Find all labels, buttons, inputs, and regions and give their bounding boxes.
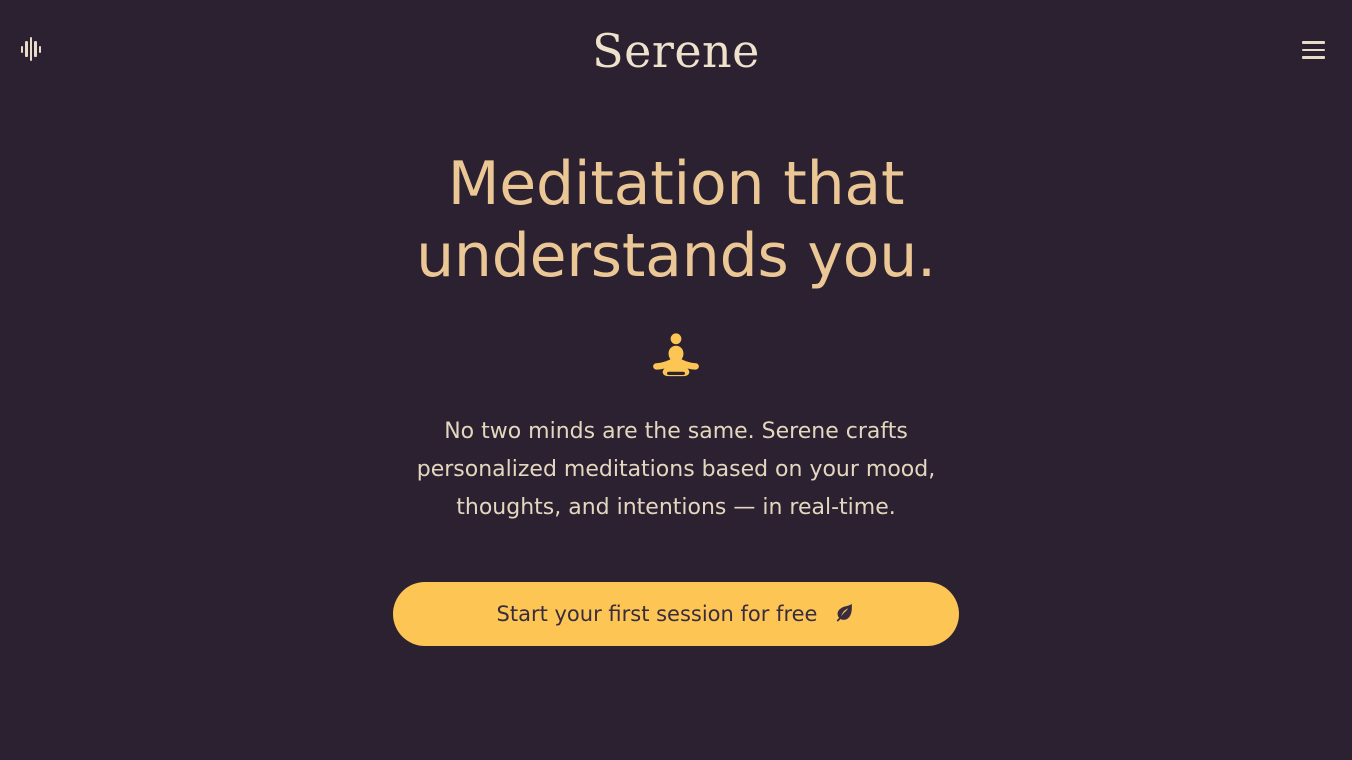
waveform-bar: [34, 41, 37, 57]
brand-logo[interactable]: Serene: [592, 28, 760, 74]
waveform-bar: [30, 37, 33, 61]
meditation-lotus-icon: [647, 328, 705, 386]
hamburger-menu-icon[interactable]: [1302, 39, 1328, 61]
menu-line: [1302, 56, 1325, 59]
page-title: Meditation that understands you.: [366, 148, 986, 292]
waveform-bar: [39, 46, 42, 53]
site-header: Serene: [0, 0, 1352, 100]
menu-line: [1302, 49, 1325, 52]
hero-section: Meditation that understands you. No two …: [0, 100, 1352, 646]
leaf-icon: [833, 601, 855, 628]
start-session-button[interactable]: Start your first session for free: [393, 582, 959, 646]
hero-subtitle: No two minds are the same. Serene crafts…: [376, 413, 976, 526]
waveform-bar: [21, 46, 24, 53]
waveform-bar: [25, 41, 28, 57]
audio-waveform-icon[interactable]: [16, 34, 46, 64]
menu-line: [1302, 41, 1325, 44]
cta-label: Start your first session for free: [497, 602, 818, 626]
landing-page: Serene Meditation that understands you. …: [0, 0, 1352, 760]
